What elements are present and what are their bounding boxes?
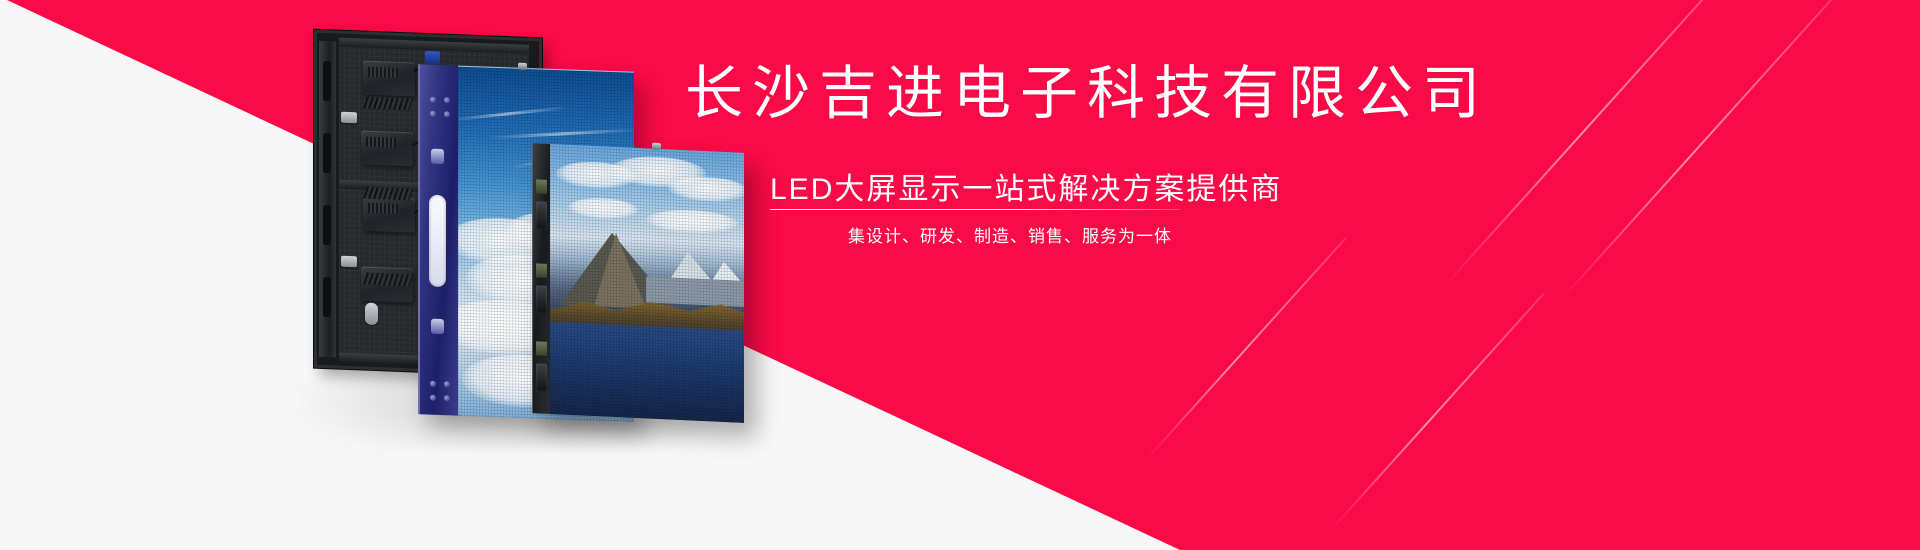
vent-grid-3 bbox=[363, 273, 413, 287]
diagonal-light-streak-3 bbox=[1329, 293, 1545, 532]
vent-grid-1 bbox=[363, 97, 413, 111]
vent-grid-2 bbox=[363, 187, 413, 201]
panel-lock-latch bbox=[431, 149, 444, 164]
led-panel-mountain-image bbox=[532, 143, 744, 423]
hero-banner: 长沙吉进电子科技有限公司 LED大屏显示一站式解决方案提供商 集设计、研发、制造… bbox=[0, 0, 1920, 550]
mountain-screen-surface bbox=[550, 144, 744, 423]
panel-lock-latch-lower bbox=[431, 319, 444, 334]
cabinet-connector-2 bbox=[341, 256, 357, 268]
diagonal-light-streak-2 bbox=[1144, 237, 1346, 461]
panel-top-knob bbox=[518, 63, 527, 70]
page-title: 长沙吉进电子科技有限公司 bbox=[685, 58, 1489, 131]
banner-subtitle: LED大屏显示一站式解决方案提供商 bbox=[770, 164, 1282, 208]
power-supply-module-1 bbox=[363, 61, 415, 97]
lake-reflection bbox=[550, 322, 744, 423]
diagonal-light-streak-1 bbox=[1439, 0, 1748, 292]
panel-black-side-frame bbox=[532, 143, 551, 414]
power-supply-module-3 bbox=[363, 197, 415, 233]
subtitle-divider bbox=[770, 209, 1180, 210]
cabinet-connector-1 bbox=[341, 112, 357, 124]
banner-tagline: 集设计、研发、制造、销售、服务为一体 bbox=[848, 222, 1172, 247]
diagonal-light-streak-4 bbox=[1559, 0, 1842, 302]
front-panel-top-knob bbox=[652, 143, 661, 150]
panel-handle bbox=[429, 195, 446, 288]
power-supply-module-2 bbox=[361, 130, 413, 166]
cabinet-data-port bbox=[425, 51, 440, 65]
cabinet-bolt bbox=[365, 303, 378, 325]
cabinet-left-rail bbox=[319, 41, 336, 358]
panel-blue-side-frame bbox=[418, 64, 461, 416]
